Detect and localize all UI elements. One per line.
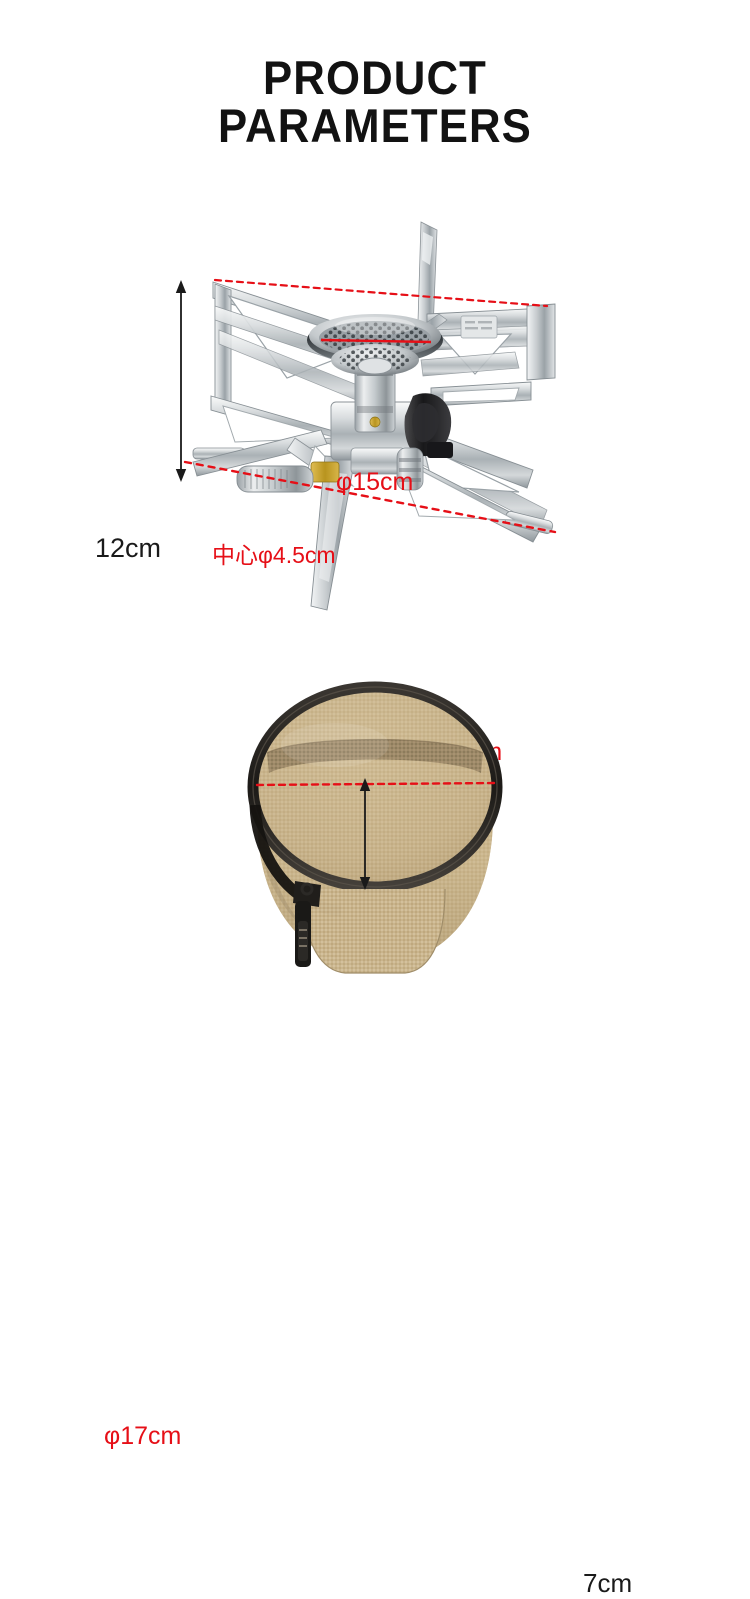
carry-case-figure: φ17cm 7cm: [0, 660, 750, 1000]
stove-center-diameter-label: 中心φ4.5cm: [212, 536, 336, 570]
stove-brass-fitting: [311, 462, 339, 482]
page-title: PRODUCT PARAMETERS: [0, 54, 750, 150]
case-height-label: 7cm: [583, 1568, 632, 1599]
case-height-dimension-arrow: [358, 778, 372, 890]
stove-knurled-valve: [237, 466, 313, 492]
page-title-line-2: PARAMETERS: [26, 102, 724, 150]
case-diameter-label: φ17cm: [104, 1422, 181, 1451]
page-title-line-1: PRODUCT: [26, 54, 724, 102]
case-front-flap: [303, 889, 445, 973]
carry-case-illustration: [195, 675, 555, 985]
stove-phi15-label: φ15cm: [336, 468, 413, 497]
stove-figure: 12cm φ15cm 中心φ4.5cm φ19.5cm: [0, 200, 750, 640]
stove-right-upper-arm: [407, 304, 555, 406]
stove-height-label: 12cm: [95, 533, 161, 564]
